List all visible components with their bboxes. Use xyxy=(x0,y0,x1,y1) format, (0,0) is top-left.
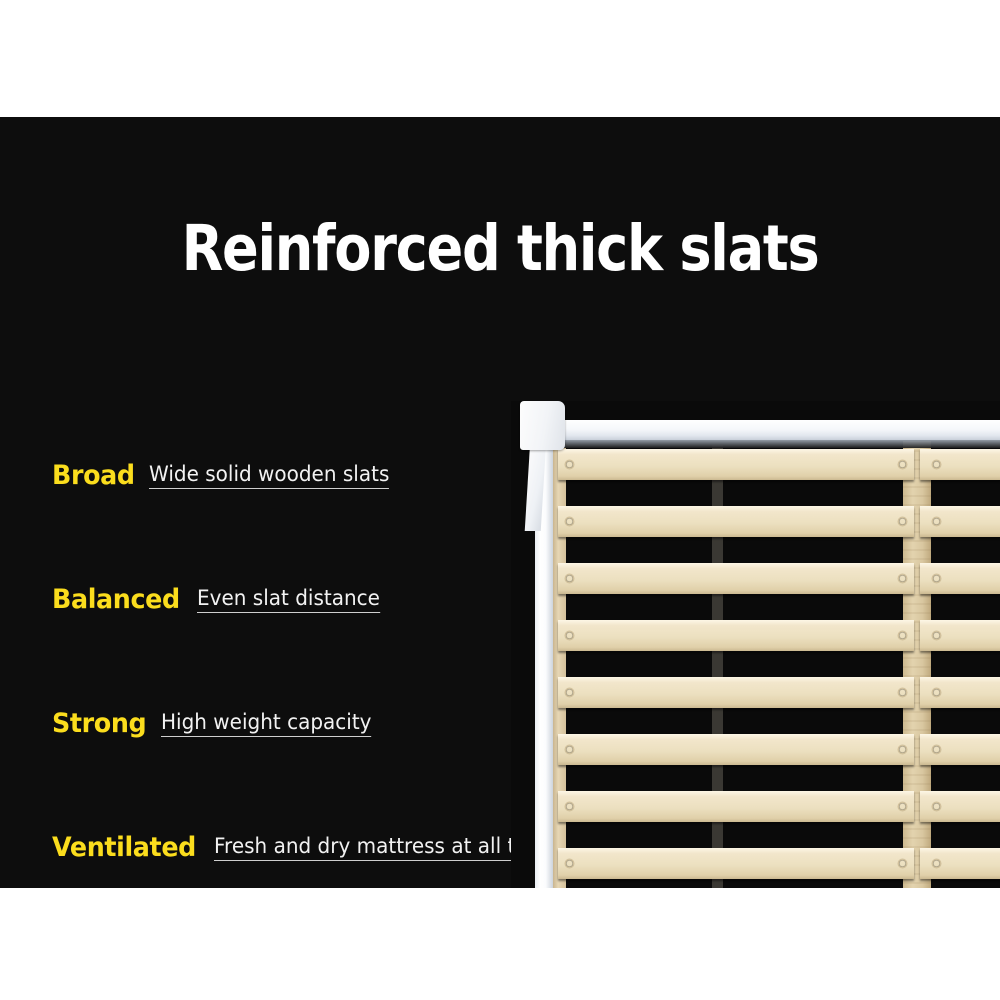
slat-screw xyxy=(933,575,940,582)
wooden-slat xyxy=(920,677,1000,708)
slat-screw xyxy=(933,689,940,696)
slat-screw xyxy=(566,803,573,810)
feature-description: Even slat distance xyxy=(197,588,380,614)
head-rail-shadow xyxy=(551,440,1000,448)
hero-panel: Reinforced thick slats Broad Wide solid … xyxy=(0,117,1000,888)
bottom-white-margin xyxy=(0,888,1000,1000)
wooden-slat xyxy=(920,563,1000,594)
slat-screw xyxy=(566,575,573,582)
wooden-slat xyxy=(920,734,1000,765)
feature-term: Balanced xyxy=(52,586,180,613)
wooden-slat xyxy=(920,848,1000,879)
top-white-margin xyxy=(0,0,1000,117)
feature-description: High weight capacity xyxy=(161,712,371,738)
slat-screw xyxy=(899,461,906,468)
wooden-slat xyxy=(920,620,1000,651)
feature-item-strong: Strong High weight capacity xyxy=(52,613,572,737)
feature-description: Wide solid wooden slats xyxy=(149,464,389,490)
wooden-slat xyxy=(558,848,914,879)
wooden-slat xyxy=(558,734,914,765)
feature-term: Broad xyxy=(52,462,135,489)
screenshot-root: Reinforced thick slats Broad Wide solid … xyxy=(0,0,1000,1000)
slat-screw xyxy=(933,860,940,867)
slat-screw xyxy=(899,689,906,696)
bed-head-rail xyxy=(551,420,1000,440)
wooden-slat xyxy=(558,563,914,594)
wooden-slat xyxy=(558,506,914,537)
slat-screw xyxy=(566,689,573,696)
wooden-slat xyxy=(920,791,1000,822)
slat-screw xyxy=(566,518,573,525)
slat-screw xyxy=(566,860,573,867)
slat-screw xyxy=(566,746,573,753)
slat-screw xyxy=(566,632,573,639)
feature-term: Strong xyxy=(52,710,146,737)
feature-item-ventilated: Ventilated Fresh and dry mattress at all… xyxy=(52,737,572,861)
feature-list: Broad Wide solid wooden slats Balanced E… xyxy=(52,365,572,861)
wooden-slat xyxy=(558,791,914,822)
feature-item-balanced: Balanced Even slat distance xyxy=(52,489,572,613)
slat-screw xyxy=(899,518,906,525)
slat-screw xyxy=(899,575,906,582)
slat-screw xyxy=(933,461,940,468)
slat-screw xyxy=(933,518,940,525)
slat-screw xyxy=(933,803,940,810)
feature-term: Ventilated xyxy=(52,834,196,861)
bed-corner-post xyxy=(520,401,565,450)
feature-item-broad: Broad Wide solid wooden slats xyxy=(52,365,572,489)
bed-slats-photo xyxy=(511,401,1000,888)
wooden-slat xyxy=(920,506,1000,537)
wooden-slat xyxy=(558,620,914,651)
page-title: Reinforced thick slats xyxy=(70,217,930,280)
slat-screw xyxy=(566,461,573,468)
slat-screw xyxy=(933,632,940,639)
slat-screw xyxy=(899,860,906,867)
slat-screw xyxy=(899,803,906,810)
slat-screw xyxy=(899,632,906,639)
wooden-slat xyxy=(558,677,914,708)
slat-screw xyxy=(933,746,940,753)
slat-screw xyxy=(899,746,906,753)
wooden-slat xyxy=(558,449,914,480)
wooden-slat xyxy=(920,449,1000,480)
